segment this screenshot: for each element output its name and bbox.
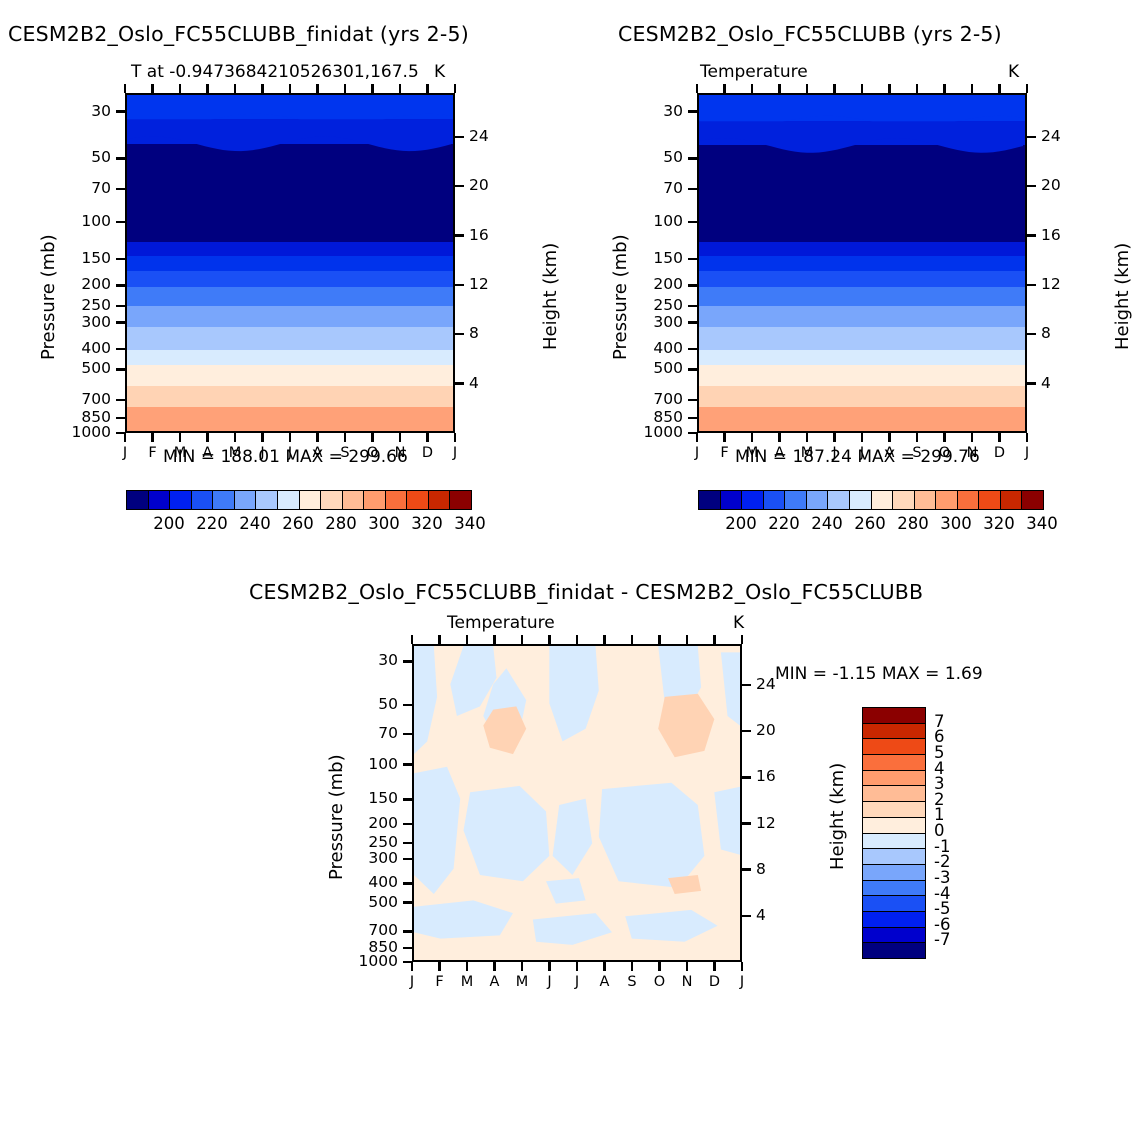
colorbar-cell-5[interactable]	[863, 786, 925, 802]
y-tick-label-30: 30	[53, 102, 111, 120]
yr-tick-label-4: 4	[756, 906, 796, 924]
colorbar-cell-0[interactable]	[863, 708, 925, 724]
y-tick-250	[116, 305, 125, 307]
yr-tick-24	[1027, 136, 1036, 138]
y-axis-title-right-right: Height (km)	[1112, 243, 1133, 350]
yr-tick-20	[455, 185, 464, 187]
y-tick-label-100: 100	[340, 755, 398, 773]
contour-bands-right	[699, 95, 1025, 431]
y-tick-100	[403, 763, 412, 765]
yr-tick-label-4: 4	[469, 374, 509, 392]
colorbar-cell-7[interactable]	[850, 491, 872, 509]
colorbar-cell-6[interactable]	[828, 491, 850, 509]
colorbar-cell-9[interactable]	[893, 491, 915, 509]
y-tick-300	[403, 858, 412, 860]
y-axis-title-right-diff: Height (km)	[827, 763, 848, 870]
x-tick-top-10	[399, 84, 401, 93]
colorbar-cell-6[interactable]	[256, 491, 278, 509]
yr-tick-16	[455, 234, 464, 236]
x-tick-3	[493, 962, 495, 971]
y-tick-500	[688, 368, 697, 370]
colorbar-cell-14[interactable]	[1001, 491, 1023, 509]
plot-area-left[interactable]	[125, 93, 455, 433]
x-tick-top-6	[861, 84, 863, 93]
y-tick-label-150: 150	[53, 249, 111, 267]
y-tick-30	[688, 110, 697, 112]
x-tick-top-8	[344, 84, 346, 93]
x-tick-7	[888, 433, 890, 442]
x-tick-top-4	[521, 635, 523, 644]
x-tick-2	[179, 433, 181, 442]
subtitle-units-right: K	[1008, 62, 1019, 82]
y-tick-200	[688, 284, 697, 286]
x-tick-top-10	[971, 84, 973, 93]
page-title: CESM2B2_Oslo_FC55CLUBB_finidat (yrs 2-5)	[8, 22, 469, 46]
x-tick-4	[806, 433, 808, 442]
x-tick-4	[521, 962, 523, 971]
page-title-right: CESM2B2_Oslo_FC55CLUBB (yrs 2-5)	[618, 22, 1002, 46]
minmax-label-left: MIN = 188.01 MAX = 299.66	[163, 447, 408, 467]
x-tick-top-1	[438, 635, 440, 644]
y-tick-50	[688, 157, 697, 159]
y-tick-label-100: 100	[625, 212, 683, 230]
x-tick-label-10: N	[673, 974, 701, 990]
x-tick-top-9	[943, 84, 945, 93]
yr-tick-12	[742, 822, 751, 824]
y-tick-30	[116, 110, 125, 112]
y-tick-label-150: 150	[340, 789, 398, 807]
y-tick-label-70: 70	[53, 179, 111, 197]
diff-region-9	[599, 783, 705, 888]
colorbar-cell-2[interactable]	[170, 491, 192, 509]
yr-tick-4	[455, 382, 464, 384]
colorbar-cell-8[interactable]	[863, 834, 925, 850]
x-tick-top-6	[576, 635, 578, 644]
difference-field	[414, 646, 742, 962]
y-tick-label-300: 300	[53, 313, 111, 331]
x-tick-label-11: D	[701, 974, 729, 990]
x-tick-1	[723, 433, 725, 442]
x-tick-label-12: J	[441, 445, 469, 461]
colorbar-cell-11[interactable]	[936, 491, 958, 509]
colorbar-tick-label-neg7: -7	[934, 930, 950, 949]
colorbar-cell-13[interactable]	[407, 491, 429, 509]
colorbar-cell-3[interactable]	[192, 491, 214, 509]
yr-tick-16	[1027, 234, 1036, 236]
yr-tick-8	[742, 868, 751, 870]
y-tick-label-30: 30	[625, 102, 683, 120]
x-tick-top-11	[426, 84, 428, 93]
x-tick-9	[943, 433, 945, 442]
y-tick-200	[403, 823, 412, 825]
x-tick-label-12: J	[1013, 445, 1041, 461]
x-tick-4	[234, 433, 236, 442]
colorbar-cell-10[interactable]	[915, 491, 937, 509]
y-tick-850	[688, 417, 697, 419]
x-tick-top-5	[833, 84, 835, 93]
yr-tick-label-8: 8	[1041, 324, 1081, 342]
y-tick-850	[403, 947, 412, 949]
y-tick-400	[688, 348, 697, 350]
yr-tick-4	[742, 915, 751, 917]
colorbar-cell-13[interactable]	[863, 912, 925, 928]
x-tick-6	[576, 962, 578, 971]
contour-bands	[127, 95, 453, 431]
colorbar-cell-7[interactable]	[278, 491, 300, 509]
yr-tick-label-20: 20	[756, 721, 796, 739]
x-tick-top-0	[411, 635, 413, 644]
x-tick-label-4: M	[508, 974, 536, 990]
y-tick-30	[403, 660, 412, 662]
x-tick-top-12	[454, 84, 456, 93]
plot-area-right[interactable]	[697, 93, 1027, 433]
x-tick-9	[658, 962, 660, 971]
x-tick-12	[1026, 433, 1028, 442]
y-tick-700	[116, 399, 125, 401]
x-tick-6	[289, 433, 291, 442]
colorbar-cell-15[interactable]	[450, 491, 471, 509]
colorbar-cell-11[interactable]	[863, 881, 925, 897]
yr-tick-20	[1027, 185, 1036, 187]
y-tick-200	[116, 284, 125, 286]
x-tick-label-5: J	[536, 974, 564, 990]
x-tick-top-2	[751, 84, 753, 93]
y-tick-label-700: 700	[340, 921, 398, 939]
x-tick-top-6	[289, 84, 291, 93]
x-tick-top-1	[723, 84, 725, 93]
y-tick-150	[403, 798, 412, 800]
x-tick-9	[371, 433, 373, 442]
yr-tick-label-24: 24	[1041, 127, 1081, 145]
x-tick-7	[603, 962, 605, 971]
x-tick-label-6: J	[563, 974, 591, 990]
y-tick-700	[688, 399, 697, 401]
y-tick-label-100: 100	[53, 212, 111, 230]
x-tick-top-9	[371, 84, 373, 93]
yr-tick-label-8: 8	[756, 860, 796, 878]
x-tick-label-0: J	[398, 974, 426, 990]
x-tick-top-7	[316, 84, 318, 93]
x-tick-top-3	[778, 84, 780, 93]
colorbar-cell-12[interactable]	[958, 491, 980, 509]
colorbar-cell-1[interactable]	[721, 491, 743, 509]
colorbar-cell-8[interactable]	[300, 491, 322, 509]
yr-tick-24	[455, 136, 464, 138]
contour-boundary-1	[127, 95, 453, 431]
x-tick-top-7	[888, 84, 890, 93]
y-tick-label-400: 400	[53, 339, 111, 357]
x-tick-5	[261, 433, 263, 442]
x-tick-12	[454, 433, 456, 442]
x-tick-1	[151, 433, 153, 442]
colorbar-cell-10[interactable]	[863, 865, 925, 881]
x-tick-top-8	[631, 635, 633, 644]
x-tick-label-7: A	[591, 974, 619, 990]
y-tick-label-50: 50	[340, 695, 398, 713]
x-tick-12	[741, 962, 743, 971]
y-tick-50	[116, 157, 125, 159]
yr-tick-label-4: 4	[1041, 374, 1081, 392]
y-tick-label-300: 300	[625, 313, 683, 331]
x-tick-0	[696, 433, 698, 442]
minmax-label-diff: MIN = -1.15 MAX = 1.69	[775, 664, 983, 684]
x-tick-label-12: J	[728, 974, 756, 990]
x-tick-top-12	[1026, 84, 1028, 93]
x-tick-11	[998, 433, 1000, 442]
y-tick-70	[403, 733, 412, 735]
yr-tick-label-16: 16	[469, 226, 509, 244]
colorbar-cell-1[interactable]	[863, 724, 925, 740]
y-tick-label-500: 500	[53, 359, 111, 377]
colorbar-tick-label-340: 340	[1012, 514, 1072, 533]
y-tick-label-700: 700	[53, 390, 111, 408]
x-tick-8	[344, 433, 346, 442]
x-tick-1	[438, 962, 440, 971]
x-tick-10	[399, 433, 401, 442]
colorbar-cell-5[interactable]	[235, 491, 257, 509]
subtitle-left-diff: Temperature	[447, 613, 555, 633]
subtitle-units: K	[434, 62, 445, 82]
y-tick-label-70: 70	[625, 179, 683, 197]
y-tick-label-1000: 1000	[340, 952, 398, 970]
y-tick-300	[688, 321, 697, 323]
x-tick-label-2: M	[453, 974, 481, 990]
x-tick-2	[466, 962, 468, 971]
x-tick-label-11: D	[414, 445, 442, 461]
y-tick-label-700: 700	[625, 390, 683, 408]
x-tick-2	[751, 433, 753, 442]
colorbar-cell-9[interactable]	[863, 849, 925, 865]
y-tick-70	[688, 188, 697, 190]
x-tick-top-2	[466, 635, 468, 644]
colorbar-cell-10[interactable]	[343, 491, 365, 509]
y-tick-500	[116, 368, 125, 370]
x-tick-8	[631, 962, 633, 971]
y-tick-label-250: 250	[625, 296, 683, 314]
y-tick-label-500: 500	[625, 359, 683, 377]
plot-area-diff[interactable]	[412, 644, 742, 962]
colorbar-cell-2[interactable]	[863, 739, 925, 755]
yr-tick-label-16: 16	[756, 767, 796, 785]
x-tick-10	[686, 962, 688, 971]
x-tick-top-4	[234, 84, 236, 93]
y-tick-100	[116, 221, 125, 223]
x-tick-top-3	[493, 635, 495, 644]
x-tick-8	[916, 433, 918, 442]
y-tick-label-30: 30	[340, 651, 398, 669]
y-tick-400	[116, 348, 125, 350]
x-tick-5	[548, 962, 550, 971]
x-tick-0	[124, 433, 126, 442]
x-tick-11	[426, 433, 428, 442]
x-tick-top-10	[686, 635, 688, 644]
x-tick-top-12	[741, 635, 743, 644]
colorbar-cell-15[interactable]	[863, 943, 925, 958]
x-tick-top-8	[916, 84, 918, 93]
y-tick-150	[688, 258, 697, 260]
x-tick-label-1: F	[426, 974, 454, 990]
yr-tick-label-20: 20	[469, 176, 509, 194]
colorbar-cell-9[interactable]	[321, 491, 343, 509]
x-tick-6	[861, 433, 863, 442]
x-tick-label-3: A	[481, 974, 509, 990]
y-tick-label-150: 150	[625, 249, 683, 267]
x-tick-10	[971, 433, 973, 442]
y-axis-title-right: Height (km)	[540, 243, 561, 350]
colorbar-left[interactable]	[126, 490, 472, 510]
x-tick-label-11: D	[986, 445, 1014, 461]
yr-tick-label-12: 12	[469, 275, 509, 293]
y-tick-300	[116, 321, 125, 323]
colorbar-right[interactable]	[698, 490, 1044, 510]
x-tick-label-9: O	[646, 974, 674, 990]
y-tick-70	[116, 188, 125, 190]
colorbar-tick-label-340: 340	[440, 514, 500, 533]
x-tick-7	[316, 433, 318, 442]
x-tick-top-3	[206, 84, 208, 93]
x-tick-0	[411, 962, 413, 971]
y-tick-250	[688, 305, 697, 307]
yr-tick-label-12: 12	[1041, 275, 1081, 293]
x-tick-top-5	[548, 635, 550, 644]
colorbar-cell-14[interactable]	[429, 491, 451, 509]
y-tick-50	[403, 704, 412, 706]
x-tick-top-0	[696, 84, 698, 93]
colorbar-cell-12[interactable]	[386, 491, 408, 509]
subtitle-left-right: Temperature	[700, 62, 808, 82]
y-tick-label-200: 200	[53, 275, 111, 293]
x-tick-3	[206, 433, 208, 442]
colorbar-cell-5[interactable]	[807, 491, 829, 509]
x-tick-top-5	[261, 84, 263, 93]
y-tick-label-400: 400	[340, 873, 398, 891]
colorbar-cell-6[interactable]	[863, 802, 925, 818]
x-tick-5	[833, 433, 835, 442]
y-tick-150	[116, 258, 125, 260]
y-tick-label-250: 250	[53, 296, 111, 314]
x-tick-top-11	[998, 84, 1000, 93]
colorbar-diff[interactable]	[862, 707, 926, 959]
colorbar-cell-2[interactable]	[742, 491, 764, 509]
x-tick-label-8: S	[618, 974, 646, 990]
x-tick-top-1	[151, 84, 153, 93]
yr-tick-24	[742, 684, 751, 686]
x-tick-top-11	[713, 635, 715, 644]
subtitle-units-diff: K	[733, 613, 744, 633]
x-tick-11	[713, 962, 715, 971]
colorbar-cell-0[interactable]	[127, 491, 149, 509]
colorbar-cell-12[interactable]	[863, 896, 925, 912]
page-title-diff: CESM2B2_Oslo_FC55CLUBB_finidat - CESM2B2…	[249, 580, 923, 604]
x-tick-top-2	[179, 84, 181, 93]
colorbar-cell-13[interactable]	[979, 491, 1001, 509]
yr-tick-12	[455, 284, 464, 286]
colorbar-cell-4[interactable]	[863, 771, 925, 787]
y-tick-400	[403, 882, 412, 884]
y-tick-850	[116, 417, 125, 419]
colorbar-cell-7[interactable]	[863, 818, 925, 834]
y-tick-label-500: 500	[340, 893, 398, 911]
y-tick-label-200: 200	[625, 275, 683, 293]
x-tick-top-4	[806, 84, 808, 93]
yr-tick-8	[1027, 333, 1036, 335]
y-tick-500	[403, 901, 412, 903]
yr-tick-8	[455, 333, 464, 335]
y-tick-100	[688, 221, 697, 223]
y-tick-label-200: 200	[340, 814, 398, 832]
colorbar-cell-4[interactable]	[213, 491, 235, 509]
colorbar-cell-3[interactable]	[863, 755, 925, 771]
subtitle-left: T at -0.9473684210526301,167.5	[131, 62, 419, 82]
colorbar-cell-8[interactable]	[872, 491, 894, 509]
x-tick-top-9	[658, 635, 660, 644]
yr-tick-12	[1027, 284, 1036, 286]
yr-tick-label-20: 20	[1041, 176, 1081, 194]
yr-tick-4	[1027, 382, 1036, 384]
colorbar-cell-14[interactable]	[863, 928, 925, 944]
yr-tick-label-12: 12	[756, 814, 796, 832]
yr-tick-label-8: 8	[469, 324, 509, 342]
colorbar-cell-11[interactable]	[364, 491, 386, 509]
colorbar-cell-1[interactable]	[149, 491, 171, 509]
y-tick-label-300: 300	[340, 849, 398, 867]
x-tick-top-0	[124, 84, 126, 93]
minmax-label-right: MIN = 187.24 MAX = 299.76	[735, 447, 980, 467]
y-tick-label-50: 50	[53, 148, 111, 166]
y-tick-label-1000: 1000	[625, 423, 683, 441]
yr-tick-label-24: 24	[469, 127, 509, 145]
colorbar-cell-4[interactable]	[785, 491, 807, 509]
y-tick-250	[403, 842, 412, 844]
yr-tick-label-16: 16	[1041, 226, 1081, 244]
y-tick-label-70: 70	[340, 724, 398, 742]
x-tick-top-7	[603, 635, 605, 644]
colorbar-cell-3[interactable]	[764, 491, 786, 509]
y-tick-label-50: 50	[625, 148, 683, 166]
y-tick-label-400: 400	[625, 339, 683, 357]
yr-tick-20	[742, 730, 751, 732]
y-tick-700	[403, 930, 412, 932]
colorbar-cell-0[interactable]	[699, 491, 721, 509]
x-tick-label-0: J	[111, 445, 139, 461]
colorbar-cell-15[interactable]	[1022, 491, 1043, 509]
x-tick-label-0: J	[683, 445, 711, 461]
y-tick-label-1000: 1000	[53, 423, 111, 441]
x-tick-3	[778, 433, 780, 442]
contour-boundary-1	[699, 95, 1025, 431]
yr-tick-16	[742, 776, 751, 778]
